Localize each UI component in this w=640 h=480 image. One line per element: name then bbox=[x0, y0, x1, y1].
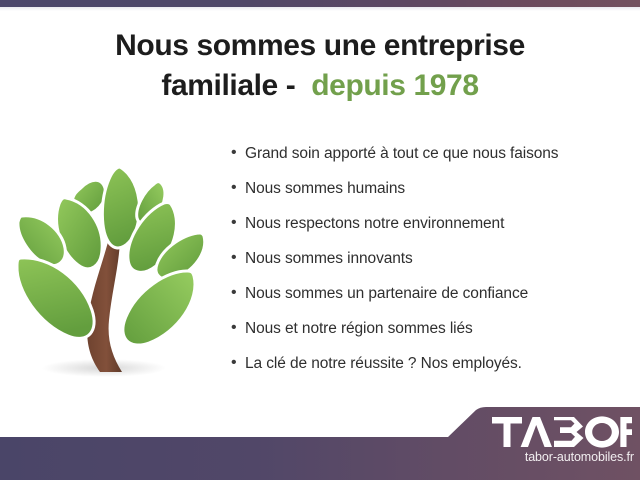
tabor-logo-tagline: tabor-automobiles.fr bbox=[494, 450, 634, 464]
list-item: • Nous et notre région sommes liés bbox=[231, 320, 631, 355]
bullet-icon: • bbox=[231, 250, 245, 266]
top-accent-strip bbox=[0, 0, 640, 7]
bullet-icon: • bbox=[231, 215, 245, 231]
list-item-label: Nous sommes un partenaire de confiance bbox=[245, 285, 528, 303]
page-title-line-1: Nous sommes une entreprise bbox=[0, 26, 640, 66]
bullet-icon: • bbox=[231, 355, 245, 371]
page-title-line-2: familiale - depuis 1978 bbox=[0, 66, 640, 106]
benefits-list: • Grand soin apporté à tout ce que nous … bbox=[231, 145, 631, 390]
list-item: • Nous respectons notre environnement bbox=[231, 215, 631, 250]
list-item-label: Grand soin apporté à tout ce que nous fa… bbox=[245, 145, 558, 163]
list-item: • Nous sommes un partenaire de confiance bbox=[231, 285, 631, 320]
tabor-logo-wordmark bbox=[492, 414, 632, 450]
list-item-label: La clé de notre réussite ? Nos employés. bbox=[245, 355, 522, 373]
list-item-label: Nous sommes innovants bbox=[245, 250, 413, 268]
page-title-line-2-prefix: familiale bbox=[161, 69, 277, 102]
bullet-icon: • bbox=[231, 285, 245, 301]
slide-canvas: Nous sommes une entreprise familiale - d… bbox=[0, 0, 640, 480]
bullet-icon: • bbox=[231, 180, 245, 196]
bullet-icon: • bbox=[231, 145, 245, 161]
tree-illustration bbox=[8, 140, 213, 390]
list-item-label: Nous respectons notre environnement bbox=[245, 215, 504, 233]
page-title: Nous sommes une entreprise familiale - d… bbox=[0, 26, 640, 106]
page-title-dash: - bbox=[286, 69, 296, 102]
page-title-highlight: depuis 1978 bbox=[311, 69, 478, 102]
tree-leaf-9 bbox=[123, 271, 195, 345]
tree-leaf-8 bbox=[17, 258, 94, 339]
list-item-label: Nous et notre région sommes liés bbox=[245, 320, 473, 338]
list-item-label: Nous sommes humains bbox=[245, 180, 405, 198]
bullet-icon: • bbox=[231, 320, 245, 336]
list-item: • Nous sommes innovants bbox=[231, 250, 631, 285]
list-item: • La clé de notre réussite ? Nos employé… bbox=[231, 355, 631, 390]
list-item: • Nous sommes humains bbox=[231, 180, 631, 215]
top-accent-strip-fade bbox=[0, 7, 640, 11]
list-item: • Grand soin apporté à tout ce que nous … bbox=[231, 145, 631, 180]
